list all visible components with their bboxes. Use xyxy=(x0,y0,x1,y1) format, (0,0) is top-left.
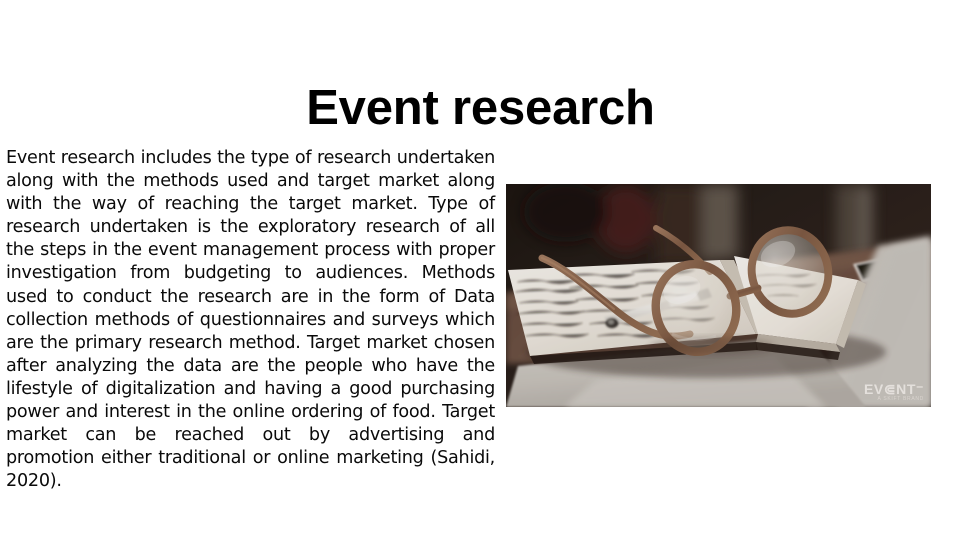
page-title: Event research xyxy=(0,79,961,137)
photo-figure: EV⋐NT⁻ A SKIFT BRAND xyxy=(506,184,931,407)
slide-canvas: Event research Event research includes t… xyxy=(0,0,961,540)
notebook-glasses-photo xyxy=(506,184,931,407)
body-paragraph: Event research includes the type of rese… xyxy=(6,147,495,493)
body-text-column: Event research includes the type of rese… xyxy=(6,147,495,493)
